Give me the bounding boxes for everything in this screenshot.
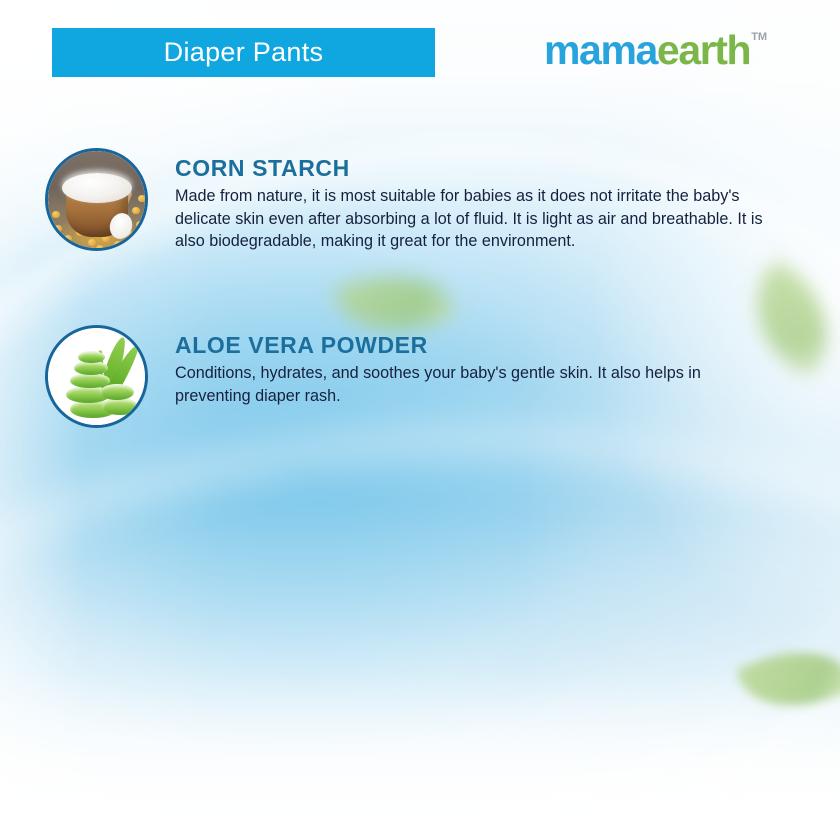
ingredient-heading: ALOE VERA POWDER [175,333,767,357]
ingredient-block-corn-starch: CORN STARCH Made from nature, it is most… [45,148,767,252]
brand-name-part-two: earth [657,30,750,71]
trademark-symbol: TM [751,32,767,43]
aloe-vera-illustration [48,328,145,425]
ingredient-heading: CORN STARCH [175,156,767,180]
corn-starch-illustration [48,151,145,248]
ingredient-description: Made from nature, it is most suitable fo… [175,185,767,252]
ingredient-description: Conditions, hydrates, and soothes your b… [175,362,767,407]
aloe-vera-photo-icon [45,325,148,428]
ingredient-text-corn-starch: CORN STARCH Made from nature, it is most… [175,148,767,252]
brand-logo: mamaearthTM [544,30,767,71]
brand-name-part-one: mama [544,30,657,71]
page-title-banner: Diaper Pants [52,28,435,77]
product-infographic-page: Diaper Pants mamaearthTM [0,0,840,840]
ingredient-text-aloe-vera: ALOE VERA POWDER Conditions, hydrates, a… [175,325,767,407]
ingredient-block-aloe-vera: ALOE VERA POWDER Conditions, hydrates, a… [45,325,767,428]
page-title: Diaper Pants [164,39,324,66]
corn-starch-photo-icon [45,148,148,251]
